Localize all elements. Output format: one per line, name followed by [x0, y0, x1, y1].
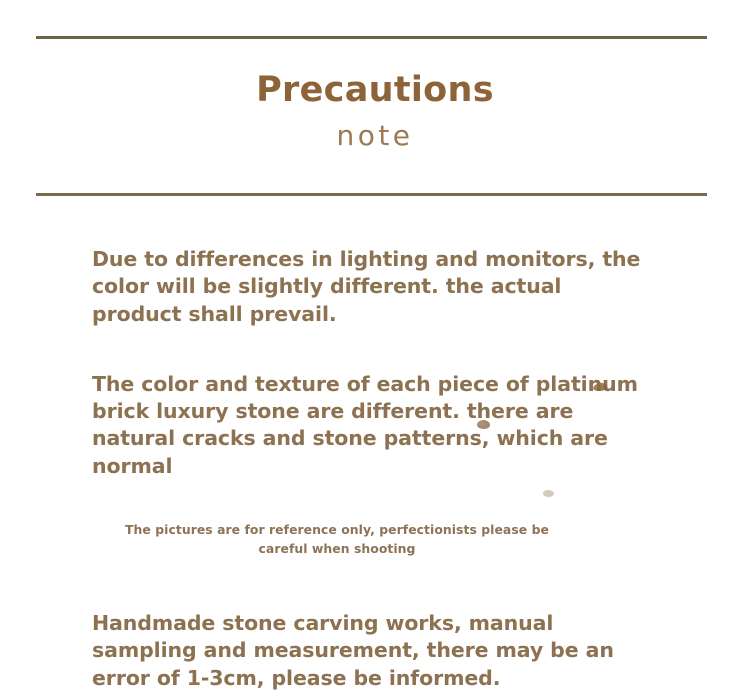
- precautions-body: Due to differences in lighting and monit…: [92, 246, 652, 692]
- page-subtitle: note: [0, 118, 750, 154]
- header-divider-top: [36, 36, 707, 39]
- header-divider-bottom: [36, 193, 707, 196]
- fine-print-reference-only: The pictures are for reference only, per…: [102, 520, 572, 558]
- page-title: Precautions: [0, 70, 750, 110]
- precaution-paragraph-measurement-error: Handmade stone carving works, manual sam…: [92, 610, 652, 692]
- precaution-paragraph-stone-variation: The color and texture of each piece of p…: [92, 371, 652, 480]
- precautions-document: Precautions note Due to differences in l…: [0, 0, 750, 686]
- precaution-paragraph-color-difference: Due to differences in lighting and monit…: [92, 246, 652, 328]
- header-title-block: Precautions note: [0, 70, 750, 155]
